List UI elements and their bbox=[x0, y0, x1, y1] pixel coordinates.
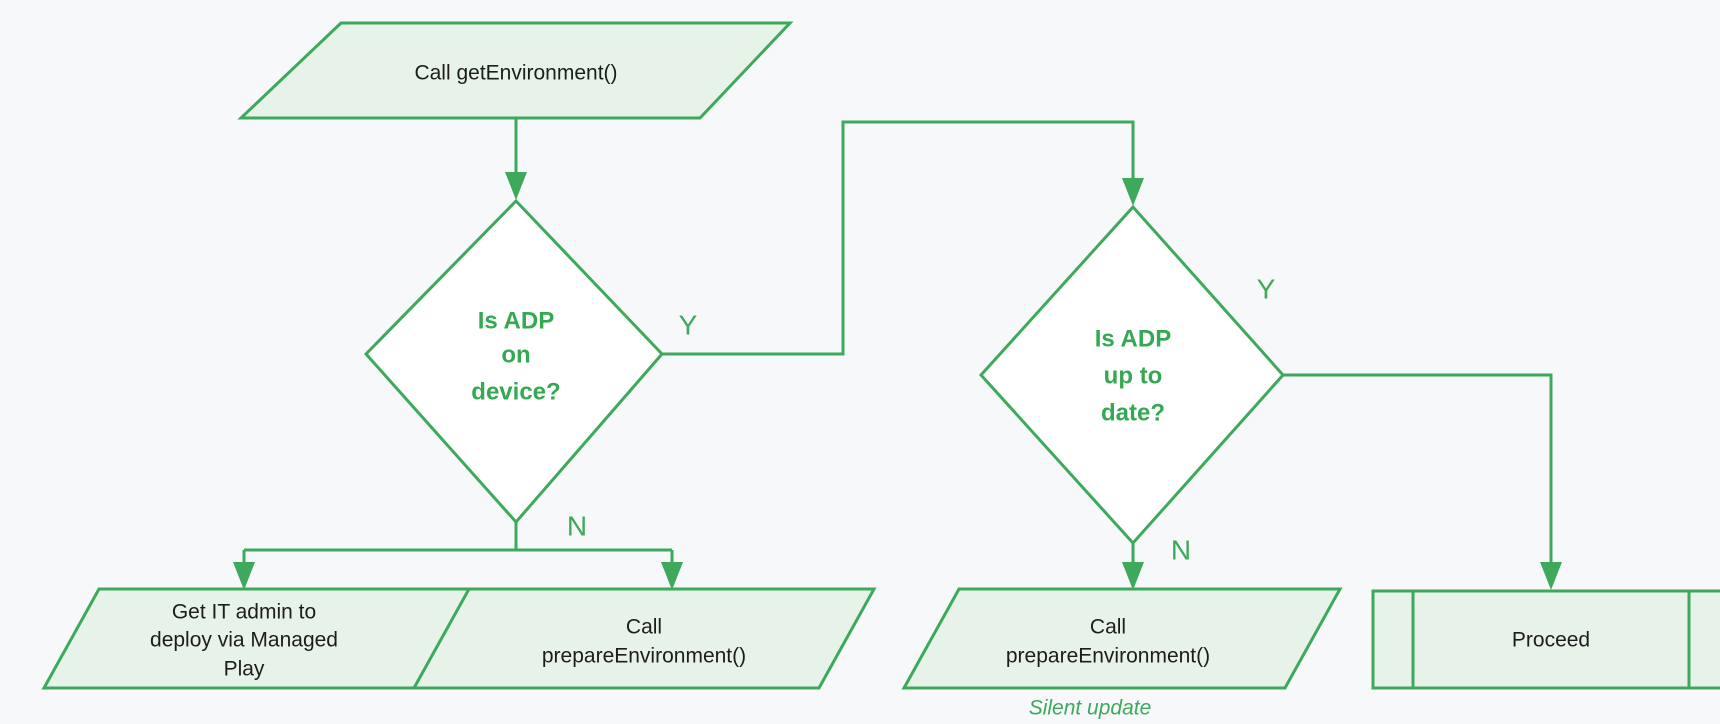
flowchart-canvas: Call getEnvironment() Is ADP on device? … bbox=[0, 0, 1720, 724]
decision-adp-up-to-date-line1: Is ADP bbox=[1095, 325, 1171, 352]
node-call-prepare-environment-right-line2: prepareEnvironment() bbox=[1006, 645, 1210, 668]
connector-device-no-split bbox=[233, 522, 683, 590]
decision-adp-on-device-line2: on bbox=[501, 341, 530, 368]
branch-label-uptodate-no: N bbox=[1171, 534, 1191, 565]
branch-label-device-no: N bbox=[567, 510, 587, 541]
node-call-prepare-environment-left[interactable]: Call prepareEnvironment() bbox=[414, 589, 874, 688]
node-proceed[interactable]: Proceed bbox=[1373, 591, 1720, 688]
node-call-get-environment[interactable]: Call getEnvironment() bbox=[241, 23, 790, 118]
branch-label-device-yes: Y bbox=[679, 309, 698, 340]
node-call-prepare-environment-right-line1: Call bbox=[1090, 616, 1126, 639]
decision-adp-on-device-line3: device? bbox=[471, 378, 560, 405]
connector-uptodate-yes-to-proceed bbox=[1283, 375, 1562, 590]
node-call-get-environment-label: Call getEnvironment() bbox=[414, 62, 617, 85]
node-get-it-admin-deploy-line1: Get IT admin to bbox=[172, 601, 316, 624]
node-decision-adp-on-device[interactable]: Is ADP on device? bbox=[366, 201, 662, 522]
decision-adp-up-to-date-line3: date? bbox=[1101, 399, 1165, 426]
connector-uptodate-no-to-prepare bbox=[1122, 543, 1144, 590]
connector-start-to-device-decision bbox=[505, 118, 527, 200]
annotation-silent-update: Silent update bbox=[1029, 697, 1152, 720]
node-proceed-label: Proceed bbox=[1512, 629, 1590, 652]
node-call-prepare-environment-right[interactable]: Call prepareEnvironment() bbox=[904, 589, 1340, 688]
branch-label-uptodate-yes: Y bbox=[1257, 273, 1276, 304]
node-get-it-admin-deploy[interactable]: Get IT admin to deploy via Managed Play bbox=[44, 589, 474, 688]
node-get-it-admin-deploy-line3: Play bbox=[224, 658, 265, 681]
flowchart-svg: Call getEnvironment() Is ADP on device? … bbox=[0, 0, 1720, 724]
node-get-it-admin-deploy-line2: deploy via Managed bbox=[150, 629, 338, 652]
node-call-prepare-environment-left-line2: prepareEnvironment() bbox=[542, 645, 746, 668]
node-call-prepare-environment-left-line1: Call bbox=[626, 616, 662, 639]
node-decision-adp-up-to-date[interactable]: Is ADP up to date? bbox=[981, 207, 1283, 543]
decision-adp-up-to-date-line2: up to bbox=[1104, 362, 1163, 389]
decision-adp-on-device-line1: Is ADP bbox=[478, 307, 554, 334]
